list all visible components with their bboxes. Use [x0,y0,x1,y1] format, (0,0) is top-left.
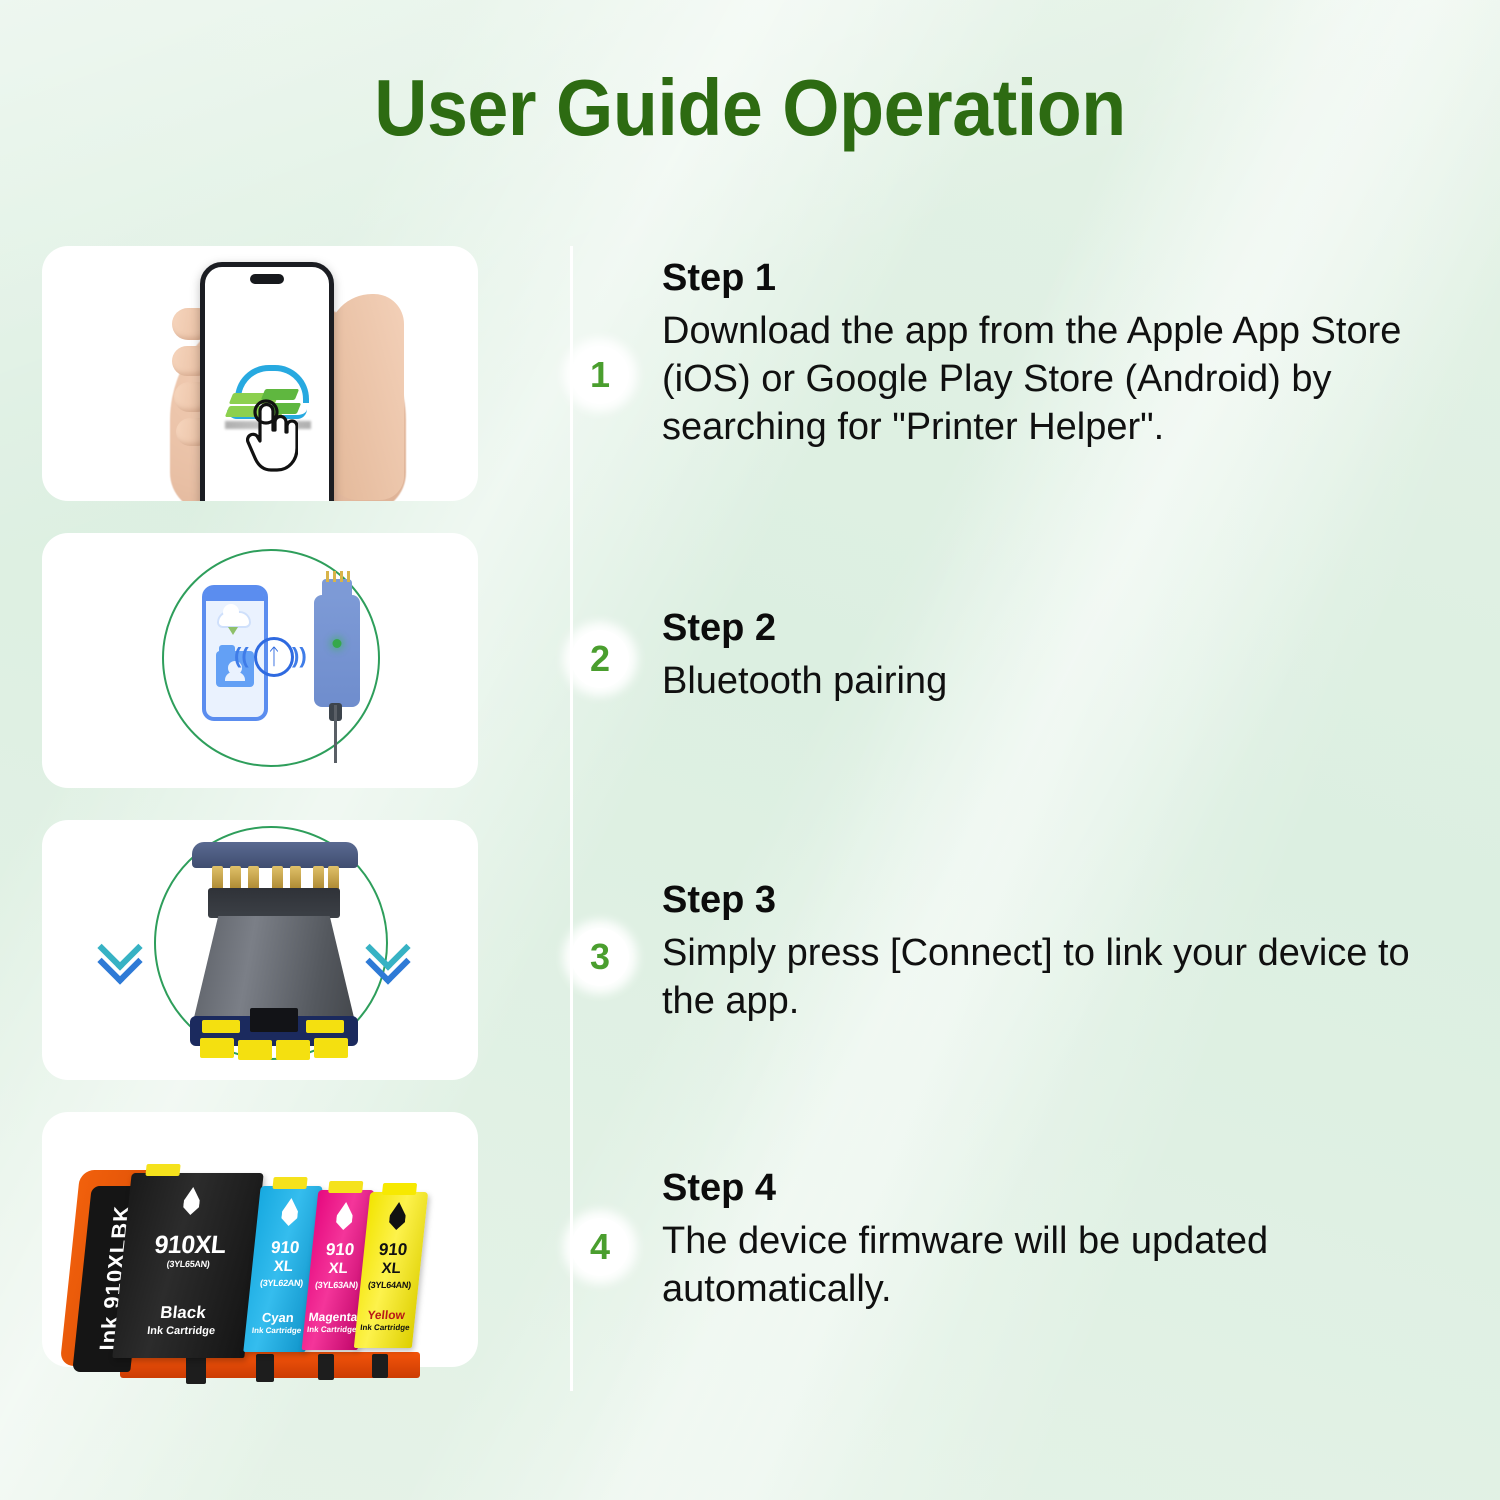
cartridge-top-tab [382,1183,417,1195]
cartridge-type: Ink Cartridge [303,1325,360,1334]
cartridge-code: 910 [311,1240,369,1260]
thumb [328,294,404,500]
cartridge-suffix: XL [251,1258,315,1275]
step-4-description: The device firmware will be updated auto… [662,1218,1462,1314]
step-2-text: Step 2 Bluetooth pairing [662,608,1462,706]
yellow-tab-4 [314,1038,348,1058]
chip-neck [208,888,340,918]
chip-cap [192,842,358,868]
yellow-contact-2 [306,1020,344,1033]
cartridge-color-name: Yellow [357,1308,416,1322]
chip-pin-1 [326,571,329,582]
step-2-image-card: (( ᛏ )) [42,533,478,788]
status-led [333,639,342,648]
cartridge-part-number: (3YL63AN) [308,1280,365,1290]
step-4-text: Step 4 The device firmware will be updat… [662,1168,1462,1314]
chip-device-icon [314,595,360,707]
step-3-title: Step 3 [662,880,1462,922]
cartridge-type: Ink Cartridge [355,1323,414,1332]
cartridge-leg-3 [318,1354,334,1380]
chip-center-block [250,1008,298,1032]
step-1-image-card [42,246,478,501]
cartridge-color-name: Black [116,1303,250,1323]
step-2-title: Step 2 [662,608,1462,650]
signal-wave-right-icon: )) [292,643,307,669]
step-1-description: Download the app from the Apple App Stor… [662,308,1462,452]
yellow-tab-2 [238,1040,272,1060]
cartridge-suffix: XL [361,1260,421,1277]
timeline-connector-line [570,246,573,1391]
step-2-illustration: (( ᛏ )) [42,533,478,788]
cartridge-top-tab [328,1181,363,1193]
tap-cursor-icon [246,398,298,474]
yellow-tab-1 [200,1038,234,1058]
cartridge-part-number: (3YL62AN) [250,1278,313,1288]
ink-drop-icon [179,1187,204,1215]
cartridge-part-number: (3YL65AN) [122,1259,255,1269]
cartridge-part-number: (3YL64AN) [360,1280,419,1290]
user-guide-page: User Guide Operation [0,0,1500,1500]
cartridge-color-name: Cyan [246,1310,310,1325]
cartridge-top-tab [145,1164,180,1176]
yellow-contact-1 [202,1020,240,1033]
cartridge-leg-4 [372,1354,388,1378]
cartridge-leg-2 [256,1354,274,1382]
step-badge-1: 1 [571,346,629,404]
step-4-image-card: Ink 910XLBK 910XL (3YL65AN) Black Ink Ca… [42,1112,478,1367]
chip-pin-3 [340,571,343,582]
yellow-tab-3 [276,1040,310,1060]
chip-pin-2 [333,571,336,582]
step-3-text: Step 3 Simply press [Connect] to link yo… [662,880,1462,1026]
step-badge-2: 2 [571,630,629,688]
cartridge-color-name: Magenta [304,1310,361,1324]
step-1-illustration [42,246,478,501]
cartridge-suffix: XL [309,1260,367,1277]
phone-status-bar [206,589,264,601]
phone-notch [250,274,284,284]
ink-drop-icon [385,1202,410,1230]
step-badge-4: 4 [571,1218,629,1276]
ink-drop-icon [278,1198,303,1226]
bluetooth-icon: ᛏ [254,637,294,677]
ink-drop-icon [332,1202,357,1230]
cartridge-leg-1 [186,1354,206,1384]
step-3-illustration [42,820,478,1080]
cartridge-black: 910XL (3YL65AN) Black Ink Cartridge [112,1173,263,1358]
cartridge-type: Ink Cartridge [114,1325,247,1337]
download-arrow-icon [228,627,238,635]
cartridge-code: 910XL [123,1231,258,1260]
step-1-text: Step 1 Download the app from the Apple A… [662,258,1462,451]
chip-device-head [322,579,352,599]
signal-wave-left-icon: (( [234,643,249,669]
page-title: User Guide Operation [60,62,1440,154]
step-3-image-card [42,820,478,1080]
cartridge-top-tab [272,1177,307,1189]
ink-cartridge-set: Ink 910XLBK 910XL (3YL65AN) Black Ink Ca… [60,1116,480,1386]
step-3-description: Simply press [Connect] to link your devi… [662,930,1462,1026]
cloud-icon [217,611,251,628]
chip-pin-4 [347,571,350,582]
step-4-title: Step 4 [662,1168,1462,1210]
step-1-title: Step 1 [662,258,1462,300]
step-4-illustration: Ink 910XLBK 910XL (3YL65AN) Black Ink Ca… [42,1112,478,1367]
cable-wire [334,705,337,763]
cartridge-type: Ink Cartridge [245,1326,308,1335]
cartridge-code: 910 [253,1238,317,1258]
step-badge-3: 3 [571,928,629,986]
cartridge-code: 910 [363,1240,423,1260]
step-2-description: Bluetooth pairing [662,658,1462,706]
